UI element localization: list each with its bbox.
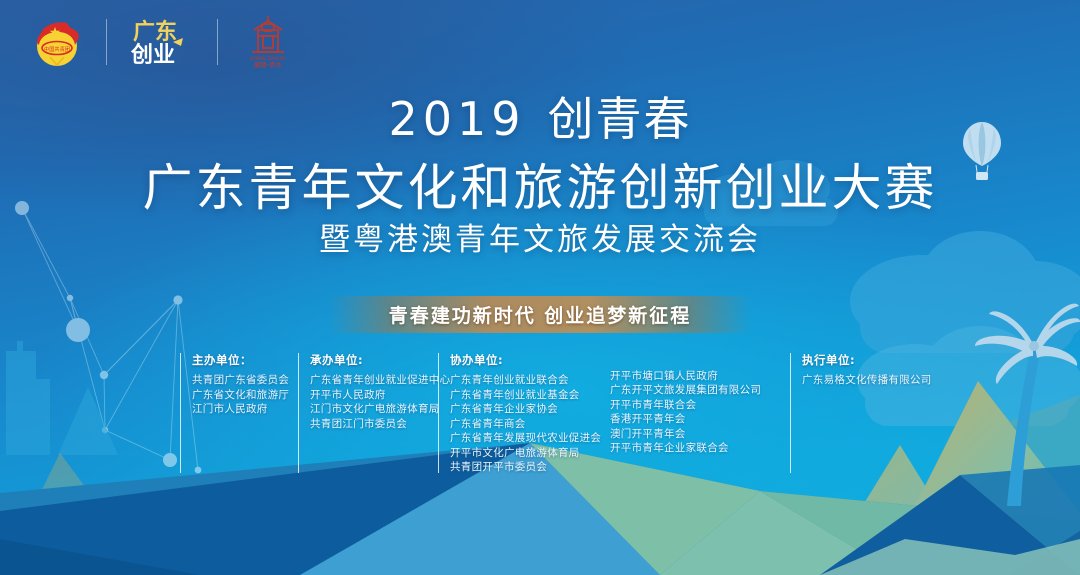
list-item: 开平市塘口镇人民政府 [610,369,790,384]
guangdong-chuangye-logo: 广东 创业 [129,16,195,68]
list-item: 开平市青年企业家联合会 [610,441,790,456]
list-item: 共青团广东省委员会 [192,373,298,388]
organizer-column-cohost: 协办单位: 广东青年创业就业联合会 广东省青年创业就业基金会 广东省青年企业家协… [438,352,610,475]
logo-bar: 中国共青团 广东 创业 [30,14,296,70]
list-item: 广东易格文化传播有限公司 [802,373,932,388]
logo-divider-1 [106,19,107,65]
svg-text:广东: 广东 [133,19,177,45]
title-sub: 暨粤港澳青年文旅发展交流会 [0,223,1080,257]
list-item: 广东省青年创业就业基金会 [450,388,610,403]
svg-text:创业: 创业 [130,43,175,68]
list-item: 广东开平文旅发展集团有限公司 [610,383,790,398]
organizer-header: 主办单位： [192,352,298,368]
kaiping-diaolou-logo: KAIPING DIAOLOU 碉楼·侨乡 [240,14,296,70]
organizer-header: 承办单位: [310,352,438,368]
list-item: 共青团江门市委员会 [310,417,438,432]
logo-divider-2 [217,19,218,65]
title-year: 2019 [388,96,525,142]
list-item: 江门市文化广电旅游体育局 [310,402,438,417]
organizer-column-undertaker: 承办单位: 广东省青年创业就业促进中心 开平市人民政府 江门市文化广电旅游体育局… [298,352,438,475]
list-item: 广东青年创业就业联合会 [450,373,610,388]
organizer-list: 开平市塘口镇人民政府 广东开平文旅发展集团有限公司 开平市青年联合会 香港开平青… [610,369,790,456]
organizer-list: 广东省青年创业就业促进中心 开平市人民政府 江门市文化广电旅游体育局 共青团江门… [310,373,438,431]
list-item: 开平市青年联合会 [610,398,790,413]
title-brand: 创青春 [548,96,692,142]
list-item: 开平市文化广电旅游体育局 [450,446,610,461]
list-item: 广东省文化和旅游厅 [192,388,298,403]
organizer-header-spacer [610,352,790,369]
list-item: 广东省青年商会 [450,417,610,432]
list-item: 香港开平青年会 [610,412,790,427]
list-item: 共青团开平市委员会 [450,460,610,475]
list-item: 江门市人民政府 [192,402,298,417]
communist-youth-league-emblem: 中国共青团 [30,15,84,69]
organizer-columns: 主办单位： 共青团广东省委员会 广东省文化和旅游厅 江门市人民政府 承办单位: … [180,352,940,475]
organizer-header: 执行单位: [802,352,932,368]
list-item: 澳门开平青年会 [610,427,790,442]
organizer-header: 协办单位: [450,352,610,368]
organizer-column-host: 主办单位： 共青团广东省委员会 广东省文化和旅游厅 江门市人民政府 [180,352,298,475]
organizer-column-cohost-cont: 开平市塘口镇人民政府 广东开平文旅发展集团有限公司 开平市青年联合会 香港开平青… [610,352,790,475]
title-block: 2019 创青春 广东青年文化和旅游创新创业大赛 暨粤港澳青年文旅发展交流会 [0,96,1080,257]
svg-text:中国共青团: 中国共青团 [44,45,70,53]
slogan-text: 青春建功新时代 创业追梦新征程 [329,296,752,333]
slogan-ribbon: 青春建功新时代 创业追梦新征程 [0,296,1080,333]
list-item: 广东省青年创业就业促进中心 [310,373,438,388]
organizer-list: 广东易格文化传播有限公司 [802,373,932,388]
list-item: 广东省青年发展现代农业促进会 [450,431,610,446]
list-item: 广东省青年企业家协会 [450,402,610,417]
organizer-list: 广东青年创业就业联合会 广东省青年创业就业基金会 广东省青年企业家协会 广东省青… [450,373,610,475]
svg-text:碉楼·侨乡: 碉楼·侨乡 [254,60,282,69]
organizer-list: 共青团广东省委员会 广东省文化和旅游厅 江门市人民政府 [192,373,298,417]
list-item: 开平市人民政府 [310,388,438,403]
poster-canvas: 中国共青团 广东 创业 [0,0,1080,575]
title-main: 广东青年文化和旅游创新创业大赛 [0,162,1080,215]
organizer-column-executor: 执行单位: 广东易格文化传播有限公司 [790,352,932,475]
